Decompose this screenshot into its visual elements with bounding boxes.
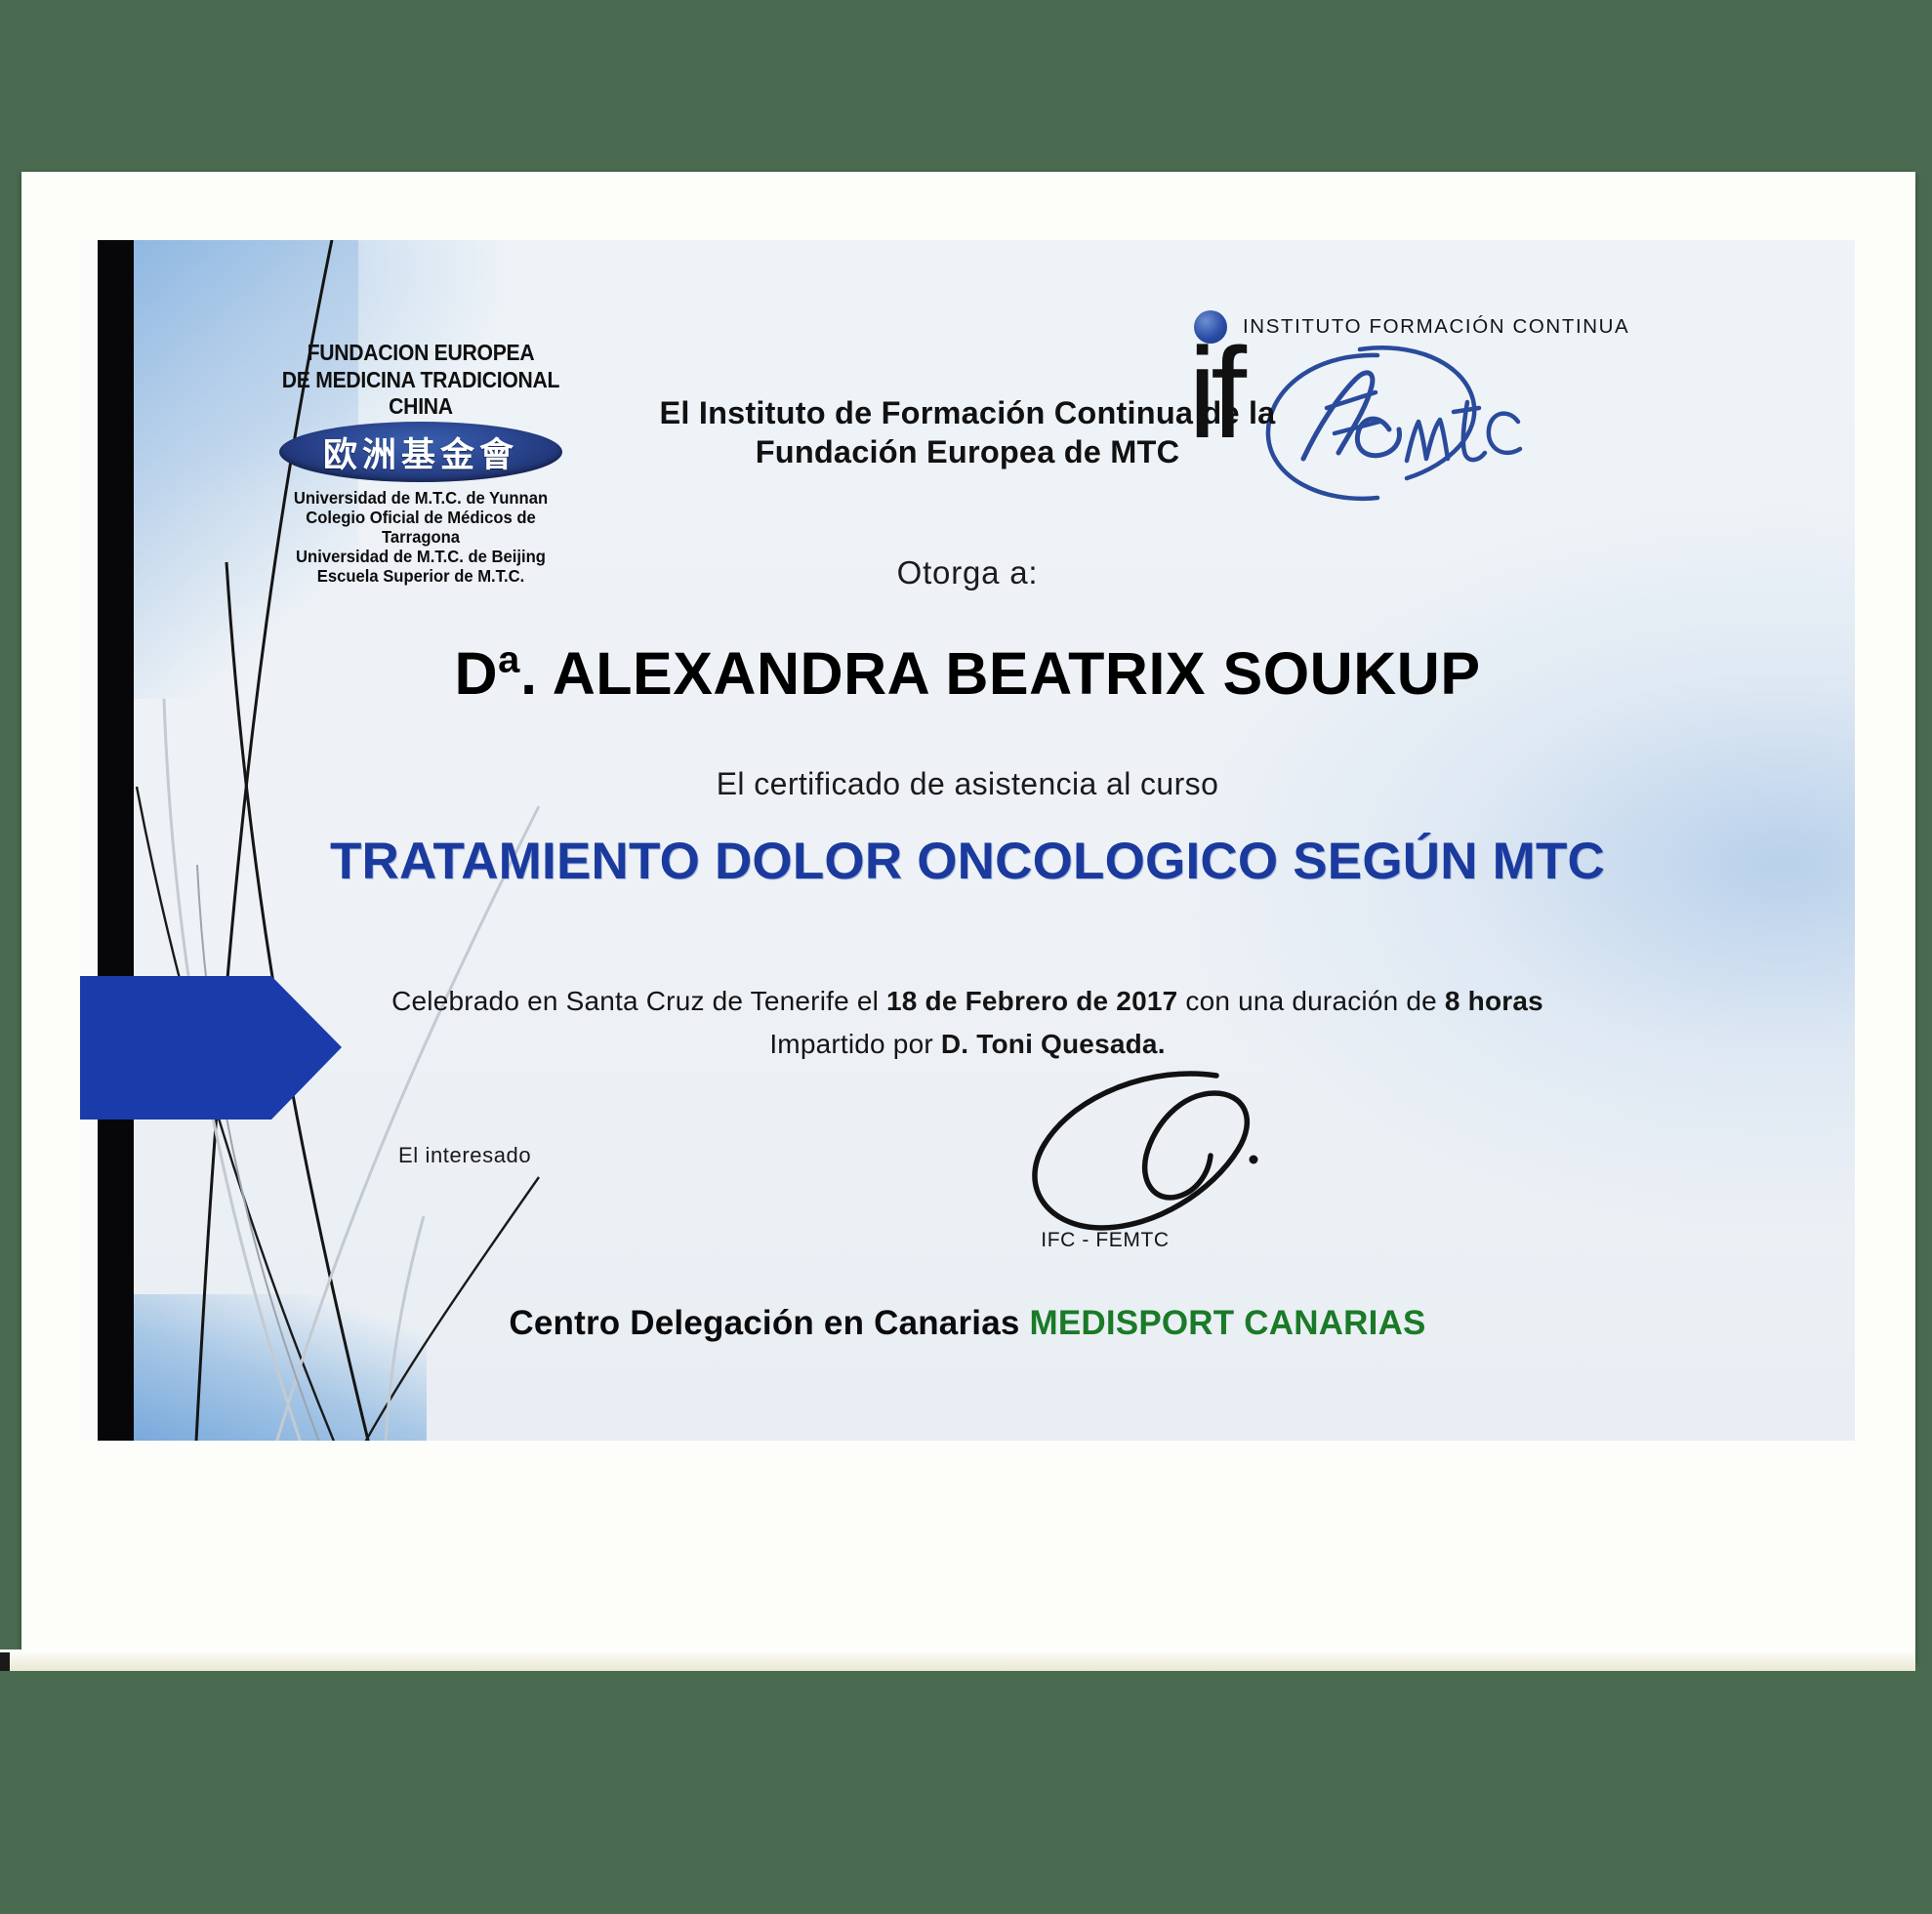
femtc-arc-line-1: FUNDACION EUROPEA bbox=[272, 340, 569, 366]
event-duration: 8 horas bbox=[1445, 986, 1543, 1016]
signature-label-recipient: El interesado bbox=[398, 1143, 531, 1168]
recipient-name-text: Dª. ALEXANDRA BEATRIX SOUKUP bbox=[454, 640, 1480, 707]
footer-delegation-line: Centro Delegación en Canarias MEDISPORT … bbox=[80, 1304, 1855, 1343]
footer-prefix: Centro Delegación en Canarias bbox=[509, 1304, 1029, 1342]
handwritten-signature-icon bbox=[1007, 1060, 1330, 1245]
instructor-line: Impartido por D. Toni Quesada. bbox=[80, 1029, 1855, 1060]
recipient-name: Dª. ALEXANDRA BEATRIX SOUKUP bbox=[80, 639, 1855, 708]
event-detail-line: Celebrado en Santa Cruz de Tenerife el 1… bbox=[80, 986, 1855, 1017]
certificate-header: El Instituto de Formación Continua de la… bbox=[80, 394, 1855, 471]
scanned-page: FUNDACION EUROPEA DE MEDICINA TRADICIONA… bbox=[21, 172, 1915, 1663]
footer-brand-name: MEDISPORT CANARIAS bbox=[1029, 1304, 1425, 1342]
paper-edge-marker bbox=[0, 1652, 10, 1671]
detail-mid: con una duración de bbox=[1177, 986, 1445, 1016]
signature-label-ifc: IFC - FEMTC bbox=[1007, 1229, 1203, 1252]
event-date: 18 de Febrero de 2017 bbox=[886, 986, 1177, 1016]
certificate-card: FUNDACION EUROPEA DE MEDICINA TRADICIONA… bbox=[80, 240, 1855, 1441]
header-line-2: Fundación Europea de MTC bbox=[80, 433, 1855, 472]
instructor-name: D. Toni Quesada. bbox=[941, 1029, 1166, 1059]
header-line-1: El Instituto de Formación Continua de la bbox=[80, 394, 1855, 433]
detail-prefix: Celebrado en Santa Cruz de Tenerife el bbox=[391, 986, 886, 1016]
instructor-prefix: Impartido por bbox=[769, 1029, 941, 1059]
paper-bottom-edge bbox=[0, 1649, 1915, 1671]
course-title: TRATAMIENTO DOLOR ONCOLOGICO SEGÚN MTC bbox=[80, 833, 1855, 891]
otorga-label: Otorga a: bbox=[80, 554, 1855, 591]
course-lead-label: El certificado de asistencia al curso bbox=[80, 766, 1855, 802]
affiliation-item: Universidad de M.T.C. de Yunnan bbox=[267, 489, 574, 509]
affiliation-item: Colegio Oficial de Médicos de Tarragona bbox=[267, 509, 574, 548]
